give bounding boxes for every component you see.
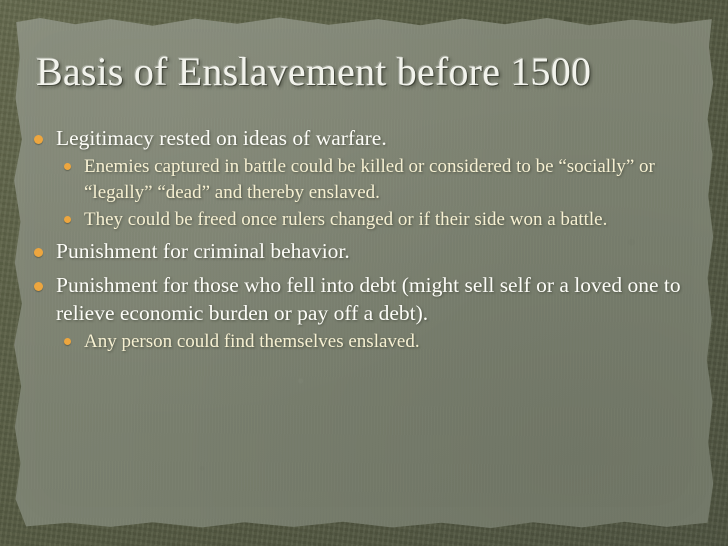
list-item: Punishment for those who fell into debt … (34, 271, 698, 328)
list-item-text: They could be freed once rulers changed … (84, 207, 698, 232)
bullet-marker-icon (34, 237, 56, 257)
slide-title-container: Basis of Enslavement before 1500 (36, 50, 692, 93)
list-item: Enemies captured in battle could be kill… (34, 154, 698, 205)
bullet-marker-icon (34, 124, 56, 144)
slide-body-content: Legitimacy rested on ideas of warfare. E… (34, 124, 698, 357)
bullet-marker-icon (64, 329, 84, 345)
bullet-marker-icon (34, 271, 56, 291)
page-title: Basis of Enslavement before 1500 (36, 50, 692, 93)
list-item-text: Legitimacy rested on ideas of warfare. (56, 124, 698, 152)
list-item-text: Enemies captured in battle could be kill… (84, 154, 698, 205)
list-item: Any person could find themselves enslave… (34, 329, 698, 354)
list-item: They could be freed once rulers changed … (34, 207, 698, 232)
list-item-text: Punishment for criminal behavior. (56, 237, 698, 265)
list-item-text: Any person could find themselves enslave… (84, 329, 698, 354)
list-item-text: Punishment for those who fell into debt … (56, 271, 698, 328)
list-item: Punishment for criminal behavior. (34, 237, 698, 265)
bullet-marker-icon (64, 207, 84, 223)
bullet-marker-icon (64, 154, 84, 170)
list-item: Legitimacy rested on ideas of warfare. (34, 124, 698, 152)
presentation-slide: Basis of Enslavement before 1500 Legitim… (0, 0, 728, 546)
